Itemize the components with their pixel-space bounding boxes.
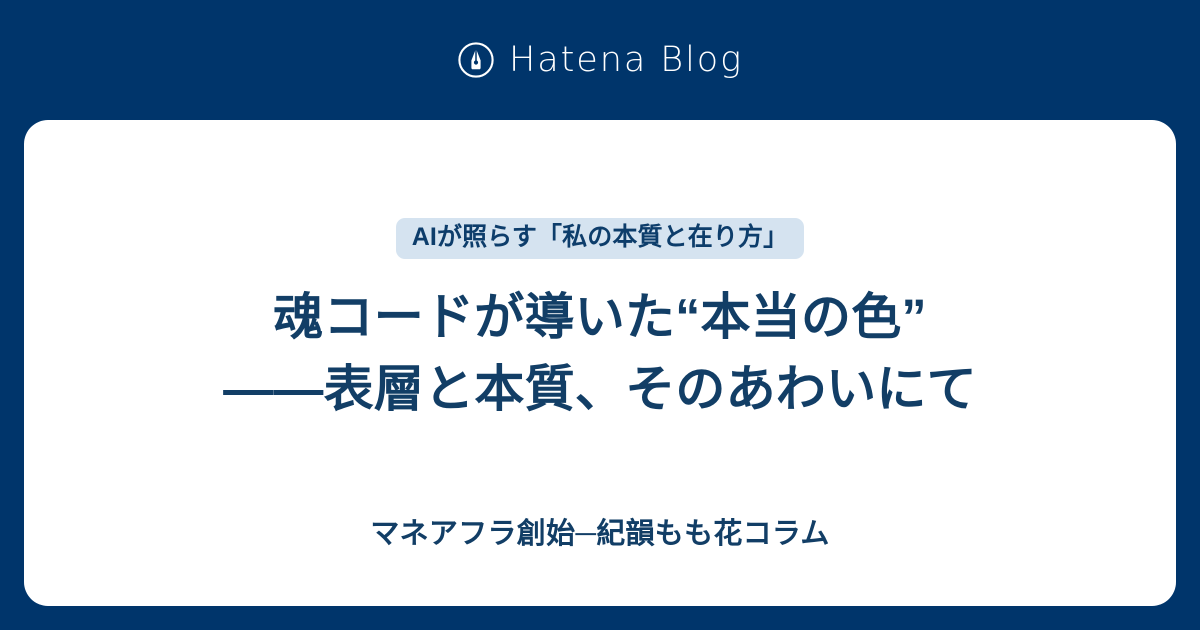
entry-title: 魂コードが導いた“本当の色” ——表層と本質、そのあわいにて: [24, 281, 1176, 425]
entry-card: AIが照らす「私の本質と在り方」 魂コードが導いた“本当の色” ——表層と本質、…: [24, 120, 1176, 606]
brand-header: Hatena Blog: [0, 0, 1200, 120]
category-badge: AIが照らす「私の本質と在り方」: [396, 218, 805, 259]
entry-title-line-1: 魂コードが導いた“本当の色”: [48, 281, 1152, 353]
entry-title-line-2: ——表層と本質、そのあわいにて: [48, 353, 1152, 425]
brand-name: Hatena Blog: [509, 43, 743, 78]
ogp-card: Hatena Blog AIが照らす「私の本質と在り方」 魂コードが導いた“本当…: [0, 0, 1200, 630]
pen-nib-circle-icon: [457, 41, 495, 79]
blog-name: マネアフラ創始─紀韻もも花コラム: [24, 517, 1176, 552]
